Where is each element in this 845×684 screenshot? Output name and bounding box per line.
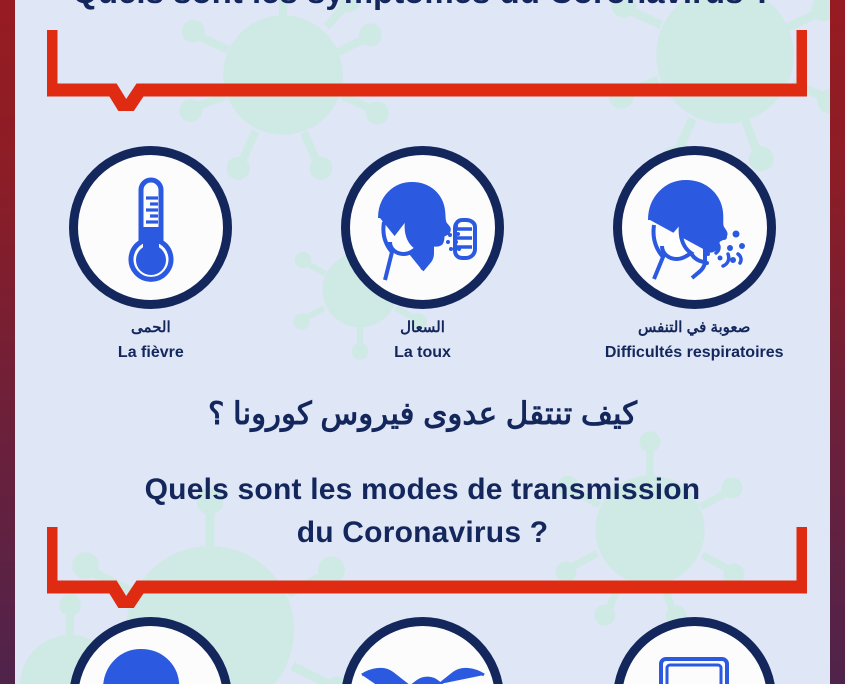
right-border [830, 0, 845, 684]
symptom-label-ar: الحمى [118, 320, 184, 336]
left-border [0, 0, 15, 684]
symptom-label-fr: La toux [394, 344, 451, 361]
symptom-label-fr: La fièvre [118, 344, 184, 361]
transmission-item-surface [558, 617, 830, 684]
thermometer-icon [69, 146, 232, 309]
symptom-caption: السعال La toux [394, 320, 451, 361]
symptom-label-ar: صعوبة في التنفس [605, 320, 784, 336]
transmission-title-fr-line1: Quels sont les modes de transmission [0, 468, 845, 511]
symptoms-row: الحمى La fièvre [15, 146, 830, 361]
coughing-person-icon [341, 146, 504, 309]
sneezing-person-icon [69, 617, 232, 684]
symptoms-title-fr: Quels sont les symptômes du Coronavirus … [0, 0, 845, 10]
symptom-item-breathing: صعوبة في التنفس Difficultés respiratoire… [558, 146, 830, 361]
transmission-item-sneeze [15, 617, 287, 684]
symptom-caption: صعوبة في التنفس Difficultés respiratoire… [605, 320, 784, 361]
transmission-red-bracket [47, 523, 807, 608]
symptom-item-cough: السعال La toux [287, 146, 559, 361]
symptom-item-fever: الحمى La fièvre [15, 146, 287, 361]
infographic-poster: Quels sont les symptômes du Coronavirus … [0, 0, 845, 684]
symptom-caption: الحمى La fièvre [118, 320, 184, 361]
transmission-row [15, 617, 830, 684]
symptom-label-fr: Difficultés respiratoires [605, 344, 784, 361]
symptom-label-ar: السعال [394, 320, 451, 336]
transmission-title-ar: كيف تنتقل عدوى فيروس كورونا ؟ [0, 393, 845, 435]
symptoms-red-bracket [47, 26, 807, 111]
transmission-item-contact [287, 617, 559, 684]
breathing-difficulty-icon [613, 146, 776, 309]
handshake-icon [341, 617, 504, 684]
contaminated-surface-icon [613, 617, 776, 684]
